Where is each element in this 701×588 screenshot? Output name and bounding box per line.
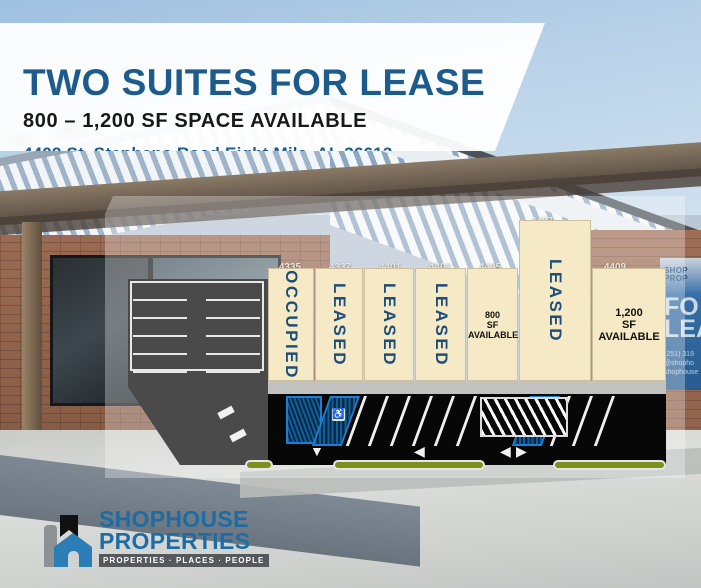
- parking-stall-line: [133, 317, 187, 319]
- suite-box-4407[interactable]: LEASED: [519, 220, 591, 381]
- suite-status-4407: LEASED: [545, 259, 565, 343]
- drive-aisle: ♿♿▼◀◀▶: [268, 394, 666, 465]
- suite-box-4401[interactable]: LEASED: [364, 268, 414, 381]
- parking-stall-line: [133, 299, 187, 301]
- traffic-arrow-4: ▶: [516, 444, 527, 458]
- parking-stall-line: [206, 371, 260, 373]
- logo-line1: SHOPHOUSE: [99, 508, 269, 530]
- traffic-arrow-1: ▼: [310, 444, 324, 458]
- parking-stall-line: [133, 335, 187, 337]
- suite-status-4403: LEASED: [431, 283, 451, 367]
- suite-box-4337[interactable]: LEASED: [315, 268, 363, 381]
- shophouse-mark-icon: [44, 515, 92, 567]
- parking-stall-line: [206, 299, 260, 301]
- parking-stripe: [390, 396, 411, 446]
- page-title: TWO SUITES FOR LEASE: [23, 64, 485, 101]
- suite-box-4409[interactable]: 1,200SFAVAILABLE: [592, 268, 666, 381]
- suite-box-4405[interactable]: 800SFAVAILABLE: [467, 268, 518, 381]
- suite-status-4335: OCCUPIED: [281, 270, 301, 380]
- logo-door-shape: [68, 551, 79, 567]
- traffic-arrow-3: ◀: [500, 444, 511, 458]
- sidewalk-strip: [268, 381, 666, 394]
- company-logo: SHOPHOUSE PROPERTIES PROPERTIES · PLACES…: [44, 508, 269, 567]
- logo-wordmark: SHOPHOUSE PROPERTIES PROPERTIES · PLACES…: [99, 508, 269, 567]
- landscape-island-2: [333, 460, 485, 470]
- parking-stripe: [456, 396, 477, 446]
- logo-tagline: PROPERTIES · PLACES · PEOPLE: [99, 554, 269, 567]
- subtitle: 800 – 1,200 SF SPACE AVAILABLE: [23, 111, 367, 131]
- suite-status-4409: 1,200SFAVAILABLE: [593, 307, 665, 343]
- landscape-island-1: [245, 460, 273, 470]
- hatched-no-parking-zone: [480, 397, 568, 437]
- parking-stripe: [572, 396, 593, 446]
- parking-stripe: [434, 396, 455, 446]
- suite-box-4335[interactable]: OCCUPIED: [268, 268, 314, 381]
- suite-box-4403[interactable]: LEASED: [415, 268, 466, 381]
- parking-stall-line: [206, 353, 260, 355]
- header-panel: TWO SUITES FOR LEASE 800 – 1,200 SF SPAC…: [0, 23, 545, 151]
- suite-status-4405: 800SFAVAILABLE: [468, 310, 517, 340]
- logo-line2: PROPERTIES: [99, 530, 269, 552]
- parking-stripe: [368, 396, 389, 446]
- parking-stall-line: [206, 317, 260, 319]
- wheelchair-icon: ♿: [332, 408, 345, 421]
- parking-stall-line: [133, 353, 187, 355]
- traffic-arrow-2: ◀: [414, 444, 425, 458]
- parking-stripe: [594, 396, 615, 446]
- logo-flag-icon: [60, 515, 78, 537]
- parking-stall-group: [130, 281, 264, 371]
- parking-stall-line: [206, 335, 260, 337]
- landscape-island-3: [553, 460, 666, 470]
- suite-status-4401: LEASED: [379, 283, 399, 367]
- parking-stripe: [412, 396, 433, 446]
- suite-status-4337: LEASED: [329, 283, 349, 367]
- lease-flyer: SHOP PROP FOLEA (251) 318 @shopho shopho…: [0, 0, 701, 588]
- parking-stall-line: [133, 371, 187, 373]
